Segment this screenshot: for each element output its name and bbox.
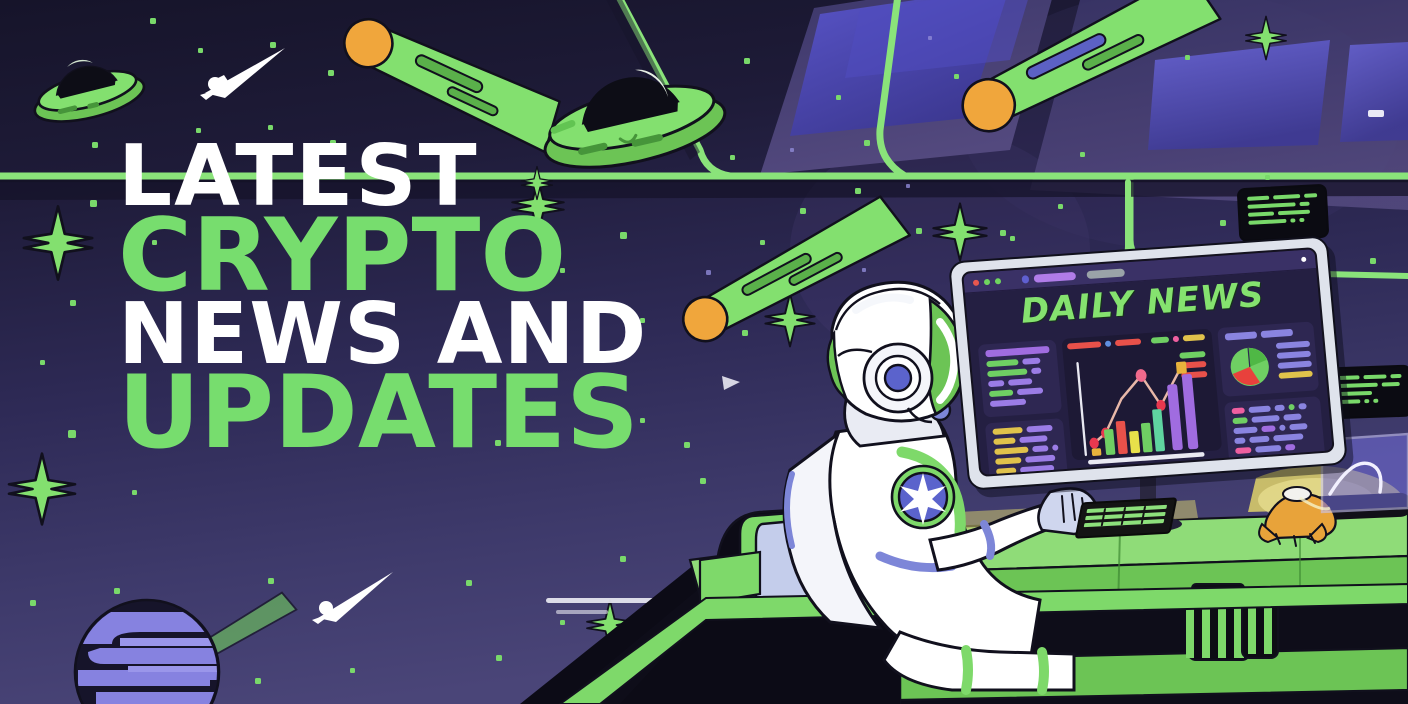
dashboard-body [978,321,1324,466]
window-dot-close[interactable] [973,279,980,285]
tab-active[interactable] [1033,271,1076,282]
dashboard-right-column [1217,321,1324,449]
page-title: LATEST CRYPTO NEWS AND UPDATES [118,140,647,457]
monitor-screen[interactable]: DAILY NEWS [961,247,1335,477]
headline-line-4: UPDATES [118,368,647,457]
pie-chart [1226,343,1274,390]
code-block-b[interactable] [985,418,1069,477]
chart-panel[interactable] [1061,329,1222,461]
dashboard-left-column [978,339,1067,466]
code-block-a[interactable] [978,339,1062,417]
tab-indicator[interactable] [1022,275,1030,283]
tab-inactive[interactable] [1086,268,1125,279]
window-dot-min[interactable] [984,278,991,284]
chart-toolbar [1067,334,1207,350]
keyboard[interactable] [1075,497,1178,538]
pie-panel[interactable] [1217,321,1319,396]
bar-series [1085,374,1198,456]
line-and-bar-chart [1069,349,1219,468]
illustration-banner: LATEST CRYPTO NEWS AND UPDATES [0,0,1408,704]
window-dot-max[interactable] [995,278,1002,284]
status-indicator [1301,257,1306,262]
terminal-panel-top[interactable] [1237,184,1330,243]
monitor[interactable]: DAILY NEWS [948,235,1348,491]
